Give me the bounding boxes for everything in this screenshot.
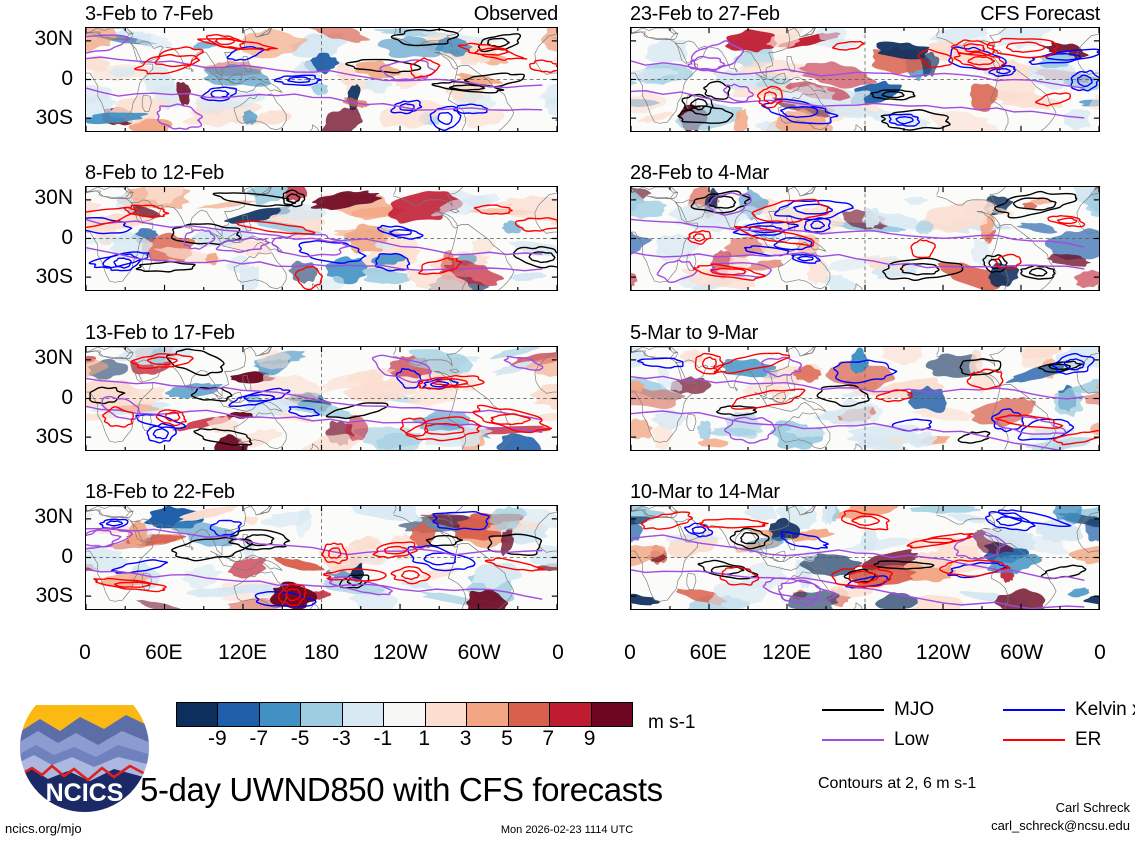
x-tick-0: 0 xyxy=(1094,641,1106,665)
map-fcs-3 xyxy=(630,346,1100,451)
panel-title-fcs-3: 5-Mar to 9-Mar xyxy=(630,322,758,345)
x-tick-0: 0 xyxy=(79,641,91,665)
map-svg-fcs-4 xyxy=(631,506,1099,609)
colorbar-tick-5: 5 xyxy=(501,727,513,751)
x-tick-0: 0 xyxy=(552,641,564,665)
panel-title-obs-1: 3-Feb to 7-Feb xyxy=(85,3,213,26)
colorbar-bin-8 xyxy=(509,703,550,726)
map-svg-obs-4 xyxy=(86,506,557,609)
colorbar-bin-1 xyxy=(218,703,259,726)
colorbar xyxy=(176,702,633,727)
site-url: ncics.org/mjo xyxy=(5,821,82,836)
map-fcs-2 xyxy=(630,186,1100,291)
map-obs-3 xyxy=(85,346,558,451)
panel-fcs-3: 5-Mar to 9-Mar xyxy=(630,346,1100,451)
x-tick-60W: 60W xyxy=(458,641,501,665)
ncics-logo-svg: NCICS xyxy=(18,681,151,814)
map-svg-fcs-3 xyxy=(631,347,1099,450)
author-name: Carl Schreck xyxy=(1056,800,1130,815)
ncics-logo: NCICS xyxy=(18,681,151,814)
colorbar-bin-5 xyxy=(384,703,425,726)
column-header-left: Observed xyxy=(474,3,558,26)
y-tick-0: 0 xyxy=(0,226,73,250)
panel-fcs-2: 28-Feb to 4-Mar xyxy=(630,186,1100,291)
y-tick-30N: 30N xyxy=(0,505,73,529)
map-svg-obs-3 xyxy=(86,347,557,450)
map-obs-1 xyxy=(85,27,558,132)
legend-line-mjo xyxy=(822,709,884,711)
y-tick-0: 0 xyxy=(0,386,73,410)
x-tick-60E: 60E xyxy=(690,641,727,665)
colorbar-tick--7: -7 xyxy=(249,727,268,751)
panel-fcs-1: 23-Feb to 27-FebCFS Forecast xyxy=(630,27,1100,132)
panel-title-obs-4: 18-Feb to 22-Feb xyxy=(85,481,235,504)
y-tick-30N: 30N xyxy=(0,186,73,210)
colorbar-tick--5: -5 xyxy=(291,727,310,751)
x-tick-60E: 60E xyxy=(145,641,182,665)
legend-label-er: ER xyxy=(1075,729,1101,751)
y-tick-30S: 30S xyxy=(0,265,73,289)
legend-line-low xyxy=(822,739,884,741)
y-tick-30S: 30S xyxy=(0,584,73,608)
legend-label-low: Low xyxy=(894,729,929,751)
ncics-logo-text: NCICS xyxy=(46,779,124,807)
timestamp: Mon 2026-02-23 1114 UTC xyxy=(501,824,633,836)
panel-title-fcs-1: 23-Feb to 27-Feb xyxy=(630,3,780,26)
x-tick-120W: 120W xyxy=(916,641,971,665)
legend-label-mjo: MJO xyxy=(894,699,934,721)
colorbar-tick--9: -9 xyxy=(208,727,227,751)
y-tick-0: 0 xyxy=(0,545,73,569)
map-fcs-1 xyxy=(630,27,1100,132)
map-fcs-4 xyxy=(630,505,1100,610)
colorbar-bin-10 xyxy=(592,703,632,726)
y-tick-30N: 30N xyxy=(0,346,73,370)
legend-line-er xyxy=(1003,739,1065,741)
x-tick-60W: 60W xyxy=(1000,641,1043,665)
colorbar-tick--3: -3 xyxy=(332,727,351,751)
y-tick-30S: 30S xyxy=(0,425,73,449)
x-tick-120E: 120E xyxy=(762,641,811,665)
author-email: carl_schreck@ncsu.edu xyxy=(991,818,1130,833)
x-tick-0: 0 xyxy=(624,641,636,665)
colorbar-tick-7: 7 xyxy=(542,727,554,751)
panel-title-fcs-4: 10-Mar to 14-Mar xyxy=(630,481,780,504)
x-tick-180: 180 xyxy=(847,641,882,665)
map-obs-4 xyxy=(85,505,558,610)
panel-title-obs-3: 13-Feb to 17-Feb xyxy=(85,322,235,345)
column-header-right: CFS Forecast xyxy=(980,3,1100,26)
colorbar-tick--1: -1 xyxy=(373,727,392,751)
legend-line-kelvin-x2 xyxy=(1003,709,1065,711)
x-tick-180: 180 xyxy=(304,641,339,665)
x-tick-120W: 120W xyxy=(373,641,428,665)
y-tick-30S: 30S xyxy=(0,106,73,130)
panel-obs-3: 13-Feb to 17-Feb xyxy=(85,346,558,451)
panel-title-obs-2: 8-Feb to 12-Feb xyxy=(85,162,224,185)
y-tick-0: 0 xyxy=(0,67,73,91)
colorbar-bin-0 xyxy=(177,703,218,726)
panel-obs-1: 3-Feb to 7-FebObserved xyxy=(85,27,558,132)
colorbar-bin-6 xyxy=(426,703,467,726)
colorbar-unit-label: m s-1 xyxy=(648,712,696,734)
colorbar-tick-9: 9 xyxy=(584,727,596,751)
map-svg-obs-2 xyxy=(86,187,557,290)
colorbar-bin-4 xyxy=(343,703,384,726)
legend-label-kelvin-x2: Kelvin x2 xyxy=(1075,699,1135,721)
x-tick-120E: 120E xyxy=(218,641,267,665)
contour-note: Contours at 2, 6 m s-1 xyxy=(818,775,976,793)
y-tick-30N: 30N xyxy=(0,27,73,51)
panel-obs-2: 8-Feb to 12-Feb xyxy=(85,186,558,291)
colorbar-tick-1: 1 xyxy=(418,727,430,751)
panel-fcs-4: 10-Mar to 14-Mar xyxy=(630,505,1100,610)
panel-obs-4: 18-Feb to 22-Feb xyxy=(85,505,558,610)
colorbar-bin-3 xyxy=(301,703,342,726)
map-obs-2 xyxy=(85,186,558,291)
colorbar-bin-2 xyxy=(260,703,301,726)
map-svg-obs-1 xyxy=(86,28,557,131)
map-svg-fcs-1 xyxy=(631,28,1099,131)
map-svg-fcs-2 xyxy=(631,187,1099,290)
colorbar-bin-7 xyxy=(467,703,508,726)
main-title: 5-day UWND850 with CFS forecasts xyxy=(140,771,663,809)
colorbar-bin-9 xyxy=(550,703,591,726)
colorbar-tick-3: 3 xyxy=(460,727,472,751)
panel-title-fcs-2: 28-Feb to 4-Mar xyxy=(630,162,769,185)
